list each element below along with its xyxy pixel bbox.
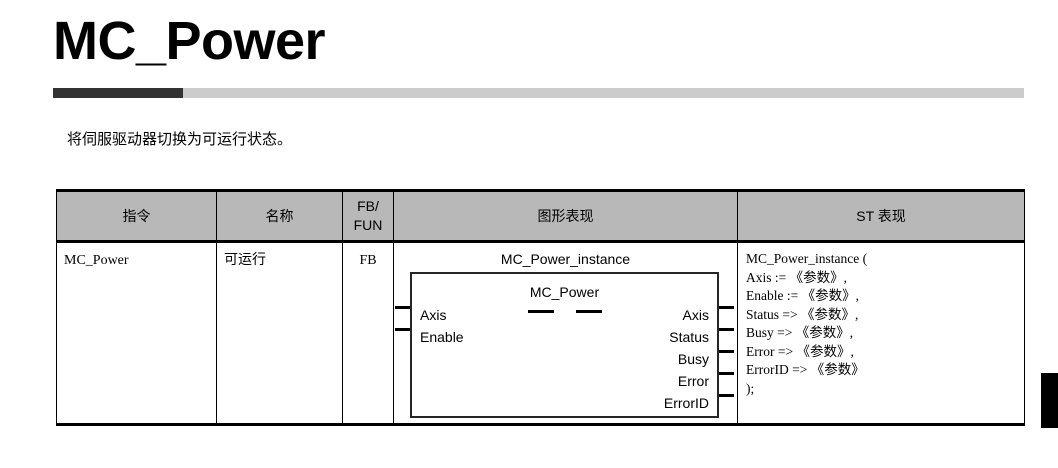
- cell-name: 可运行: [217, 242, 343, 425]
- cell-command: MC_Power: [57, 242, 217, 425]
- st-code-text: MC_Power_instance ( Axis := 《参数》, Enable…: [738, 243, 1024, 398]
- cell-fb-fun: FB: [343, 242, 394, 425]
- fb-output-errorid: ErrorID: [664, 392, 709, 414]
- column-header-command: 指令: [57, 191, 217, 242]
- name-text: 可运行: [217, 243, 342, 270]
- output-stub-status: [719, 328, 734, 331]
- fb-input-labels: Axis Enable: [420, 304, 464, 348]
- output-stub-busy: [719, 350, 734, 353]
- column-header-graphic: 图形表现: [394, 191, 738, 242]
- output-stub-errorid: [719, 394, 734, 397]
- fb-output-busy: Busy: [664, 348, 709, 370]
- input-stub-axis: [395, 306, 410, 309]
- title-rule: [53, 88, 1024, 98]
- cell-st-representation: MC_Power_instance ( Axis := 《参数》, Enable…: [738, 242, 1025, 425]
- fb-output-status: Status: [664, 326, 709, 348]
- fb-dash-1: [528, 310, 554, 313]
- column-header-name: 名称: [217, 191, 343, 242]
- fb-box-outline: MC_Power Axis Enable Axis Status Bu: [410, 272, 719, 418]
- command-text: MC_Power: [57, 243, 216, 270]
- column-header-fb-fun: FB/ FUN: [343, 191, 394, 242]
- fb-output-axis: Axis: [664, 304, 709, 326]
- output-stub-axis: [719, 306, 734, 309]
- fb-fun-text: FB: [343, 243, 393, 270]
- page-edge-tab: [1041, 373, 1058, 428]
- page-description: 将伺服驱动器切换为可运行状态。: [67, 130, 292, 150]
- fb-output-labels: Axis Status Busy Error ErrorID: [664, 304, 709, 414]
- fb-input-axis: Axis: [420, 304, 464, 326]
- page-title: MC_Power: [53, 10, 325, 72]
- fb-instance-label: MC_Power_instance: [394, 251, 737, 267]
- fb-fun-line1: FB/: [343, 197, 393, 216]
- title-rule-dark-segment: [53, 88, 183, 98]
- cell-graphic-representation: MC_Power_instance MC_Power: [394, 242, 738, 425]
- fb-fun-line2: FUN: [343, 216, 393, 235]
- column-header-st: ST 表现: [738, 191, 1025, 242]
- instruction-spec-table: 指令 名称 FB/ FUN 图形表现 ST 表现 MC_Power 可运行 FB…: [56, 189, 1025, 426]
- fb-dash-2: [576, 310, 602, 313]
- fb-output-error: Error: [664, 370, 709, 392]
- title-rule-light-segment: [183, 88, 1024, 98]
- fb-block-name: MC_Power: [412, 284, 717, 300]
- output-stub-error: [719, 372, 734, 375]
- input-stub-enable: [395, 328, 410, 331]
- table-header-row: 指令 名称 FB/ FUN 图形表现 ST 表现: [57, 191, 1025, 242]
- function-block-diagram: MC_Power_instance MC_Power: [394, 243, 737, 423]
- table-row: MC_Power 可运行 FB MC_Power_instance: [57, 242, 1025, 425]
- fb-input-enable: Enable: [420, 326, 464, 348]
